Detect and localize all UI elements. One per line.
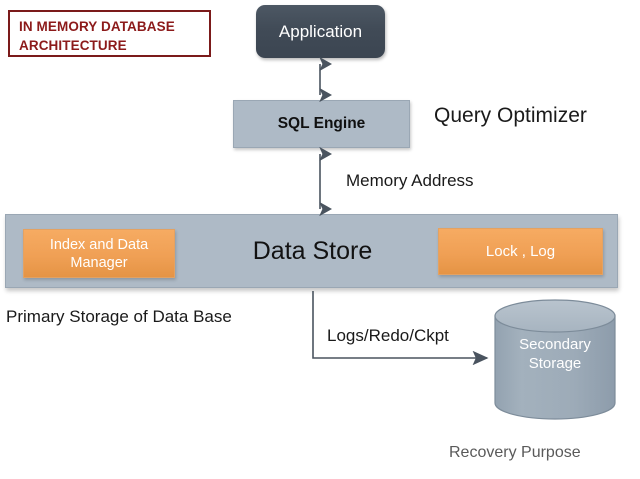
node-sql-engine-label: SQL Engine: [278, 115, 366, 133]
diagram-canvas: IN MEMORY DATABASE ARCHITECTURE Applicat…: [0, 0, 640, 479]
title-line-1: IN MEMORY DATABASE: [19, 17, 209, 36]
annotation-primary-storage: Primary Storage of Data Base: [6, 307, 232, 327]
annotation-query-optimizer: Query Optimizer: [434, 104, 587, 128]
node-application-label: Application: [279, 22, 362, 42]
database-cylinder-icon: [493, 299, 617, 420]
node-secondary-storage: Secondary Storage: [493, 299, 617, 420]
connector-data-store-secondary-storage: [313, 291, 487, 358]
node-index-and-data-manager: Index and Data Manager: [23, 229, 175, 278]
node-data-store: Data Store Index and Data Manager Lock ,…: [5, 214, 618, 288]
title-line-2: ARCHITECTURE: [19, 36, 209, 55]
node-lock-log: Lock , Log: [438, 228, 603, 275]
node-application: Application: [256, 5, 385, 58]
annotation-logs-redo-ckpt: Logs/Redo/Ckpt: [327, 326, 449, 346]
annotation-recovery-purpose: Recovery Purpose: [449, 444, 581, 462]
node-lock-log-label: Lock , Log: [486, 243, 555, 261]
node-index-and-data-manager-label: Index and Data Manager: [24, 236, 174, 272]
annotation-memory-address: Memory Address: [346, 171, 474, 191]
node-sql-engine: SQL Engine: [233, 100, 410, 148]
diagram-title-box: IN MEMORY DATABASE ARCHITECTURE: [8, 10, 211, 57]
